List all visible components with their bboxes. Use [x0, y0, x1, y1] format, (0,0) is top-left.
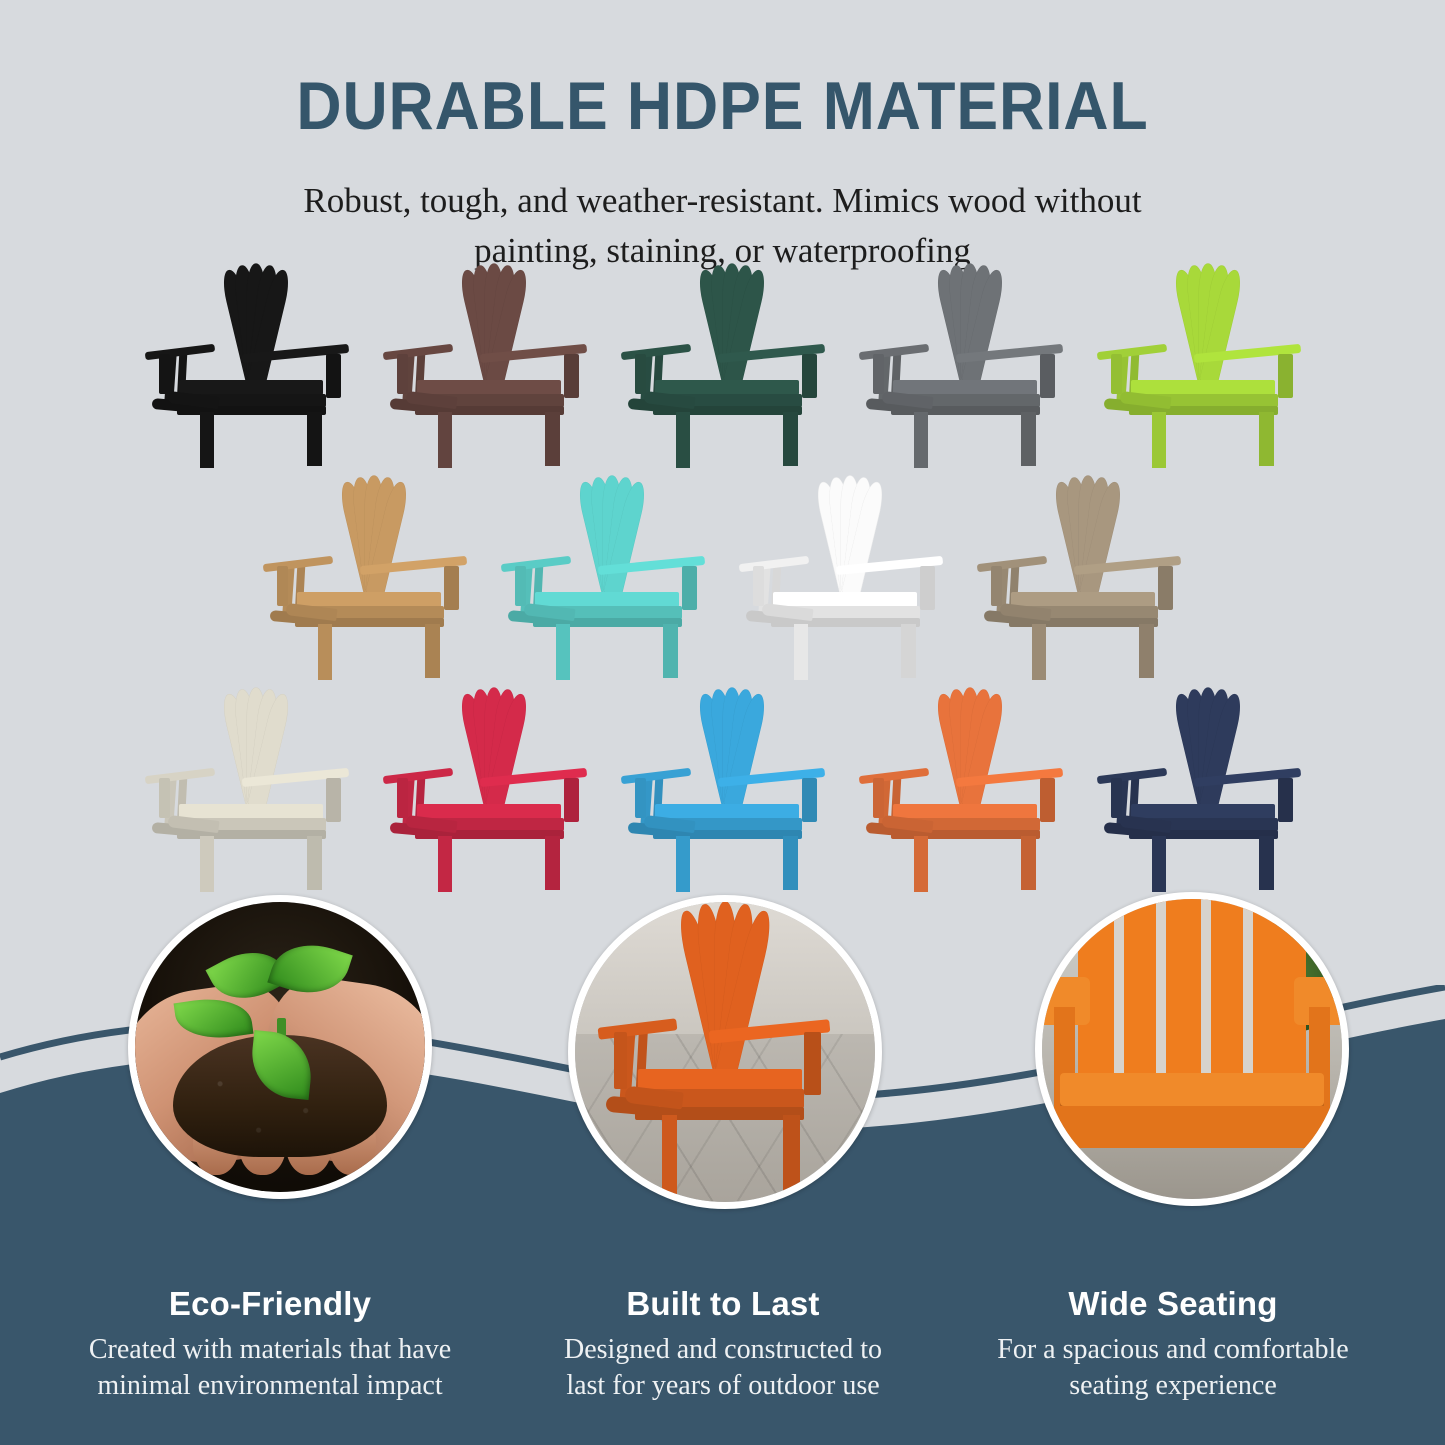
- left-arm-support: [1111, 778, 1123, 818]
- chair-front-leg-right: [1259, 412, 1274, 466]
- back-slat-gap: [1201, 892, 1211, 1085]
- chair-seat: [1060, 1073, 1324, 1106]
- chair-swatch-ivory[interactable]: [140, 692, 372, 892]
- left-arm-support: [1111, 354, 1123, 394]
- feature-desc-line-2: minimal environmental impact: [97, 1370, 442, 1401]
- chair-front-leg-left: [1152, 412, 1166, 468]
- chair-back: [886, 268, 1053, 384]
- right-arm-support: [1278, 778, 1293, 822]
- chair-back: [528, 480, 695, 596]
- chair-back: [630, 908, 820, 1075]
- chair-back: [1124, 692, 1291, 808]
- chair-swatch-weathered-wood[interactable]: [972, 480, 1204, 680]
- right-arm-support: [802, 354, 817, 398]
- chair-illustration: [972, 480, 1204, 680]
- chair-front-leg-right: [783, 1115, 800, 1193]
- chair-illustration: [378, 268, 610, 468]
- chair-front-leg-left: [200, 836, 214, 892]
- chair-front-leg-left: [438, 412, 452, 468]
- feature-description: Created with materials that have minimal…: [35, 1332, 505, 1405]
- chair-front-leg-left: [318, 624, 332, 680]
- chair-swatch-black[interactable]: [140, 268, 372, 468]
- chair-front-leg-right: [1259, 836, 1274, 890]
- right-arm-support: [564, 354, 579, 398]
- chair-front-leg-right: [663, 624, 678, 678]
- chair-seat: [655, 804, 799, 819]
- chair-front-leg-right: [307, 836, 322, 890]
- feature-desc-line-1: Created with materials that have: [89, 1334, 451, 1365]
- chair-front-leg-left: [676, 412, 690, 468]
- right-arm-support: [682, 566, 697, 610]
- chair-seat: [893, 380, 1037, 395]
- chair-seat: [1131, 380, 1275, 395]
- chair-front-leg-left: [794, 624, 808, 680]
- infographic-canvas: DURABLE HDPE MATERIAL Robust, tough, and…: [0, 0, 1445, 1445]
- feature-heading: Wide Seating: [938, 1285, 1408, 1323]
- right-arm-support: [1278, 354, 1293, 398]
- chair-seat: [417, 380, 561, 395]
- chair-seat: [179, 804, 323, 819]
- chair-swatch-teak[interactable]: [258, 480, 490, 680]
- chair-seat: [1131, 804, 1275, 819]
- chair-front-leg-right: [901, 624, 916, 678]
- left-arm-support: [635, 354, 647, 394]
- chair-illustration: [616, 268, 848, 468]
- chair-swatch-turquoise[interactable]: [496, 480, 728, 680]
- feature-built-to-last: Built to Last Designed and constructed t…: [488, 1285, 958, 1405]
- chair-front-leg-right: [1021, 836, 1036, 890]
- chair-illustration: [140, 268, 372, 468]
- chair-back: [1004, 480, 1171, 596]
- chair-swatch-orange[interactable]: [854, 692, 1086, 892]
- feature-desc-line-1: For a spacious and comfortable: [997, 1334, 1348, 1365]
- chair-back: [766, 480, 933, 596]
- feature-wide-seating: Wide Seating For a spacious and comforta…: [938, 1285, 1408, 1405]
- chair-front-leg-left: [200, 412, 214, 468]
- page-subtitle: Robust, tough, and weather-resistant. Mi…: [0, 176, 1445, 275]
- chair-front-leg-right: [425, 624, 440, 678]
- chair-back-front-view: [1078, 892, 1306, 1085]
- right-arm-support: [920, 566, 935, 610]
- right-arm-support: [1040, 778, 1055, 822]
- chair-front-leg-left: [914, 836, 928, 892]
- chair-apron: [1060, 1106, 1324, 1148]
- chair-swatch-blue[interactable]: [616, 692, 848, 892]
- feature-desc-line-1: Designed and constructed to: [564, 1334, 882, 1365]
- chair-front-leg-left: [914, 412, 928, 468]
- chair-swatch-white[interactable]: [734, 480, 966, 680]
- right-arm-support: [1040, 354, 1055, 398]
- chair-front-leg-left: [662, 1115, 678, 1196]
- back-slat-gap: [1156, 892, 1166, 1085]
- chair-front-leg-left: [676, 836, 690, 892]
- left-arm-support: [873, 354, 885, 394]
- chair-front-leg-left: [1152, 836, 1166, 892]
- hands-holding-seedling-photo: [128, 895, 432, 1199]
- chair-front-leg-right: [1139, 624, 1154, 678]
- chair-illustration: [1092, 268, 1324, 468]
- chair-back: [410, 692, 577, 808]
- chair-swatch-dark-green[interactable]: [616, 268, 848, 468]
- chair-front-leg-left: [556, 624, 570, 680]
- back-slat-gap: [1243, 892, 1253, 1085]
- left-arm-support: [397, 354, 409, 394]
- right-arm-support: [326, 354, 341, 398]
- left-arm-support: [753, 566, 765, 606]
- chair-illustration: [854, 268, 1086, 468]
- chair-front-leg-right: [545, 412, 560, 466]
- feature-description: For a spacious and comfortable seating e…: [938, 1332, 1408, 1405]
- chair-seat: [655, 380, 799, 395]
- chair-illustration: [258, 480, 490, 680]
- left-arm-support: [397, 778, 409, 818]
- chair-seat: [1011, 592, 1155, 607]
- chair-illustration: [734, 480, 966, 680]
- right-arm-support: [564, 778, 579, 822]
- chair-back: [290, 480, 457, 596]
- feature-heading: Built to Last: [488, 1285, 958, 1323]
- chair-back: [172, 692, 339, 808]
- chair-seat: [535, 592, 679, 607]
- chair-illustration: [616, 692, 848, 892]
- orange-adirondack-chair-photo: [568, 895, 882, 1209]
- chair-swatch-navy-blue[interactable]: [1092, 692, 1324, 892]
- feature-eco-friendly: Eco-Friendly Created with materials that…: [35, 1285, 505, 1405]
- left-arm-support: [277, 566, 289, 606]
- chair-seat: [773, 592, 917, 607]
- chair-swatch-brown[interactable]: [378, 268, 610, 468]
- feature-desc-line-2: seating experience: [1069, 1370, 1277, 1401]
- left-arm-support: [614, 1032, 627, 1090]
- right-arm-support: [444, 566, 459, 610]
- subtitle-line-1: Robust, tough, and weather-resistant. Mi…: [0, 176, 1445, 226]
- chair-color-grid: [0, 268, 1445, 908]
- left-arm-support: [873, 778, 885, 818]
- chair-front-leg-left: [438, 836, 452, 892]
- chair-illustration: [496, 480, 728, 680]
- left-arm-support: [159, 778, 171, 818]
- chair-front-leg-right: [783, 412, 798, 466]
- chair-seat: [638, 1069, 802, 1091]
- chair-swatch-red[interactable]: [378, 692, 610, 892]
- chair-seat: [297, 592, 441, 607]
- chair-front-leg-right: [545, 836, 560, 890]
- chair-back: [886, 692, 1053, 808]
- left-arm-support: [159, 354, 171, 394]
- chair-back: [1124, 268, 1291, 384]
- chair-swatch-gray[interactable]: [854, 268, 1086, 468]
- feature-heading: Eco-Friendly: [35, 1285, 505, 1323]
- right-arm-support: [1158, 566, 1173, 610]
- left-arm-support: [635, 778, 647, 818]
- built-to-last-photo-content: [575, 902, 875, 1202]
- chair-illustration: [593, 908, 857, 1196]
- chair-front-leg-left: [1032, 624, 1046, 680]
- back-slat-gap: [1114, 892, 1124, 1085]
- right-arm-support: [804, 1032, 821, 1095]
- chair-seat: [179, 380, 323, 395]
- right-arm-support: [326, 778, 341, 822]
- chair-front-leg-right: [307, 412, 322, 466]
- feature-description: Designed and constructed to last for yea…: [488, 1332, 958, 1405]
- chair-photo-subject: [593, 908, 857, 1196]
- chair-illustration: [140, 692, 372, 892]
- chair-illustration: [854, 692, 1086, 892]
- chair-seat: [417, 804, 561, 819]
- page-title: DURABLE HDPE MATERIAL: [58, 72, 1387, 140]
- chair-seat: [893, 804, 1037, 819]
- chair-apron: [635, 1107, 804, 1120]
- feature-desc-line-2: last for years of outdoor use: [566, 1370, 879, 1401]
- chair-front-leg-right: [1021, 412, 1036, 466]
- orange-chair-wide-seat-photo: [1035, 892, 1349, 1206]
- eco-photo-content: [135, 902, 425, 1192]
- chair-back: [410, 268, 577, 384]
- right-arm-support: [802, 778, 817, 822]
- chair-illustration: [1092, 692, 1324, 892]
- chair-swatch-lime-green[interactable]: [1092, 268, 1324, 468]
- chair-back: [172, 268, 339, 384]
- chair-illustration: [378, 692, 610, 892]
- chair-back: [648, 692, 815, 808]
- left-arm-support: [515, 566, 527, 606]
- chair-front-leg-right: [783, 836, 798, 890]
- chair-back: [648, 268, 815, 384]
- left-arm-support: [991, 566, 1003, 606]
- wide-seating-photo-content: [1042, 899, 1342, 1199]
